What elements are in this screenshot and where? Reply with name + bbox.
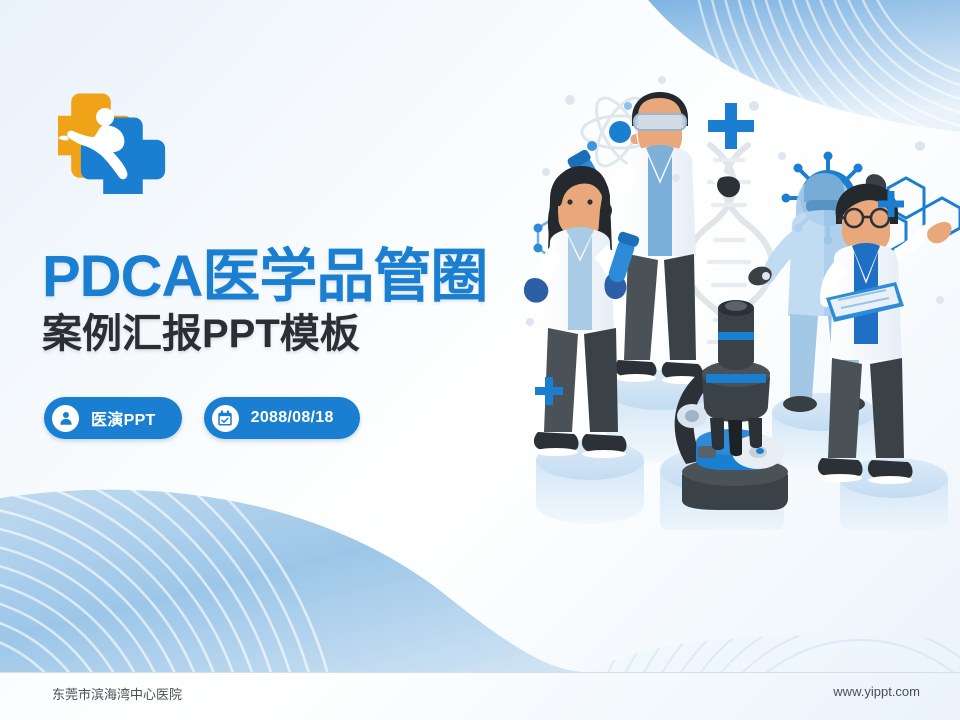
footer-hospital-name: 东莞市滨海湾中心医院 — [52, 684, 182, 703]
meta-badge-row: 医演PPT 2088/08/18 — [44, 397, 360, 439]
footer-website[interactable]: www.yippt.com — [833, 684, 920, 699]
page-title: PDCA医学品管圈 — [42, 248, 487, 306]
slide-root: PDCA医学品管圈 案例汇报PPT模板 医演PPT — [0, 0, 960, 720]
date-badge-label: 2088/08/18 — [251, 409, 334, 427]
author-badge[interactable]: 医演PPT — [44, 397, 182, 439]
hospital-logo — [58, 92, 168, 194]
footer-divider — [0, 672, 960, 673]
page-subtitle: 案例汇报PPT模板 — [42, 314, 360, 354]
cross-small-icon — [535, 377, 563, 410]
calendar-icon — [212, 405, 239, 432]
author-badge-label: 医演PPT — [91, 406, 156, 430]
person-icon — [52, 405, 79, 432]
cross-large-icon — [708, 103, 754, 154]
hospital-cross-runner-logo-icon — [58, 92, 168, 194]
cross-medium-icon — [878, 191, 904, 222]
date-badge[interactable]: 2088/08/18 — [204, 397, 360, 439]
